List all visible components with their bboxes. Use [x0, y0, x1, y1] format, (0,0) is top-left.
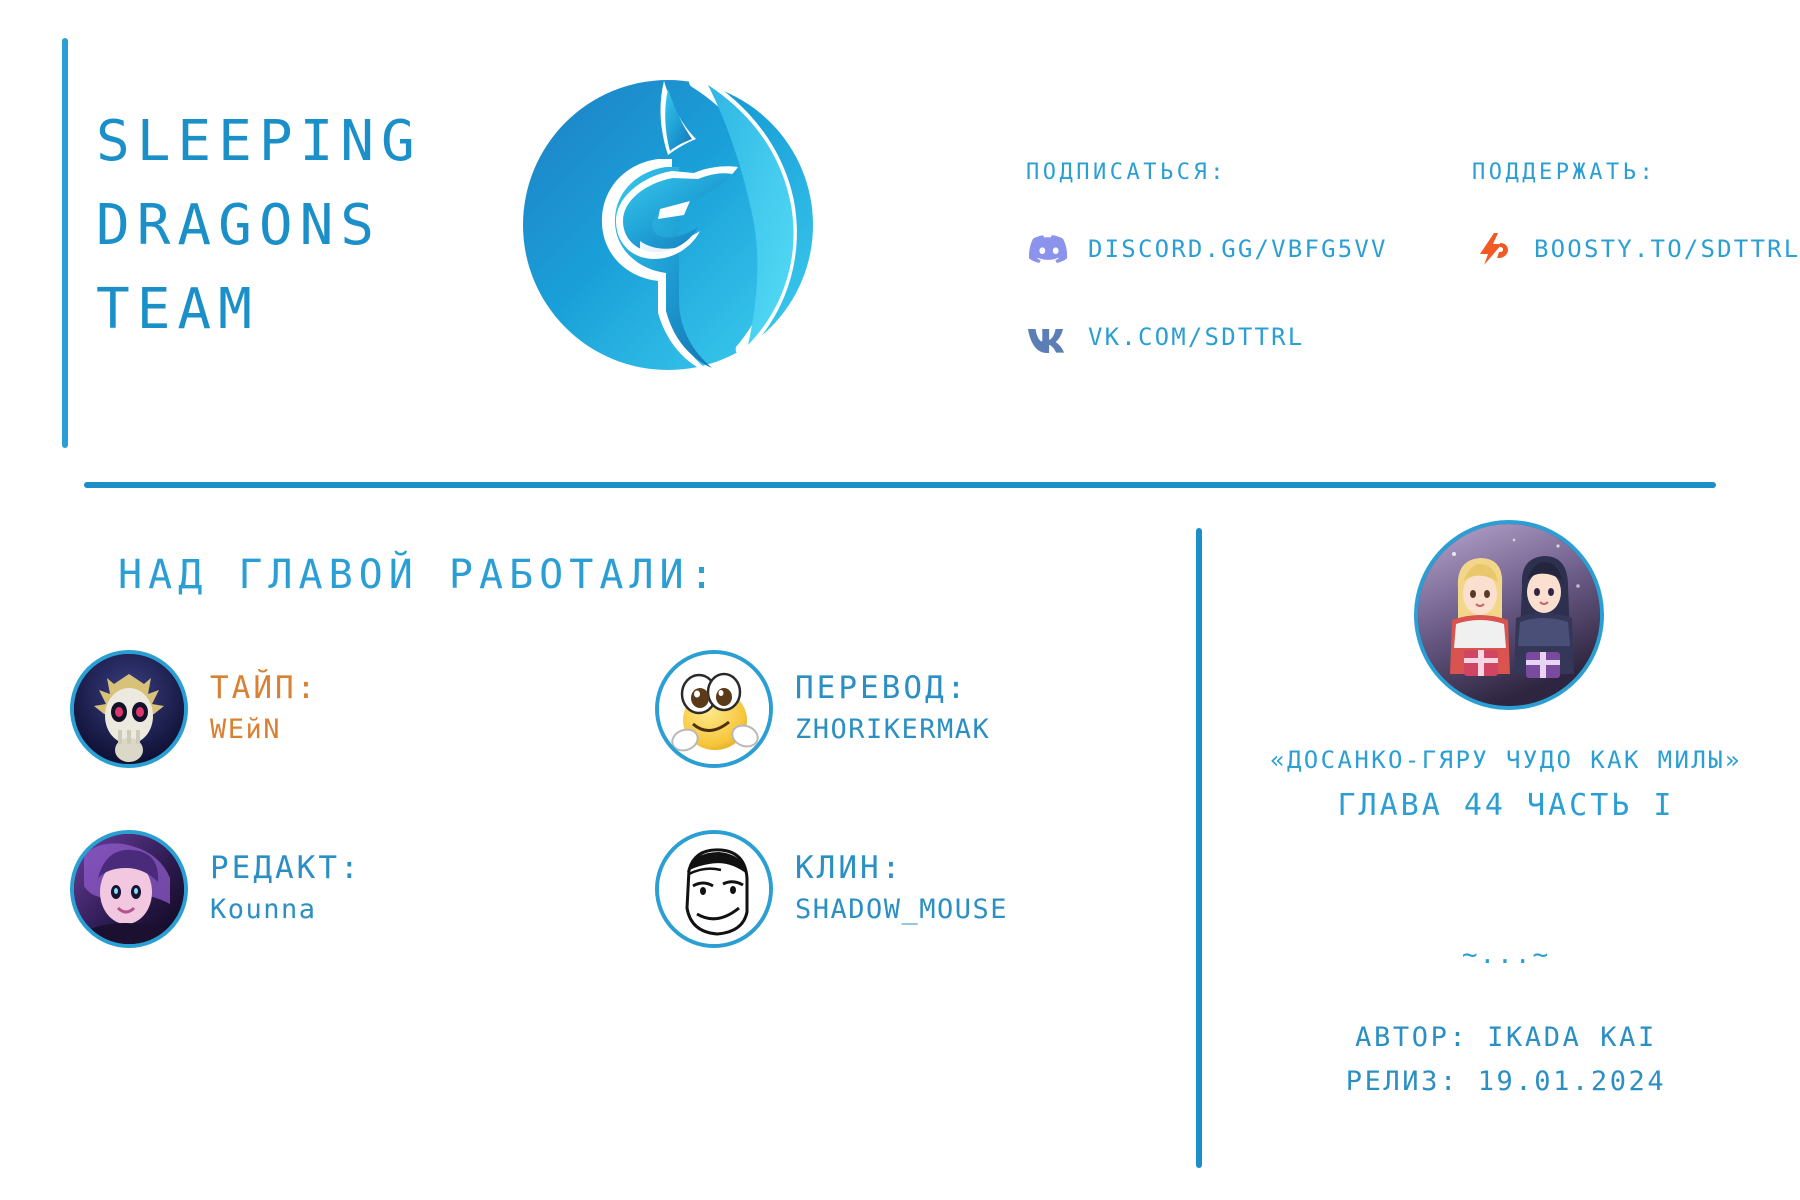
subscribe-column: ПОДПИСАТЬСЯ: DISCORD.GG/VBFG5VV VK.COM/S…: [1026, 160, 1388, 405]
credit-item-type: ТАЙП: WЕйN: [70, 650, 318, 768]
credits-section: НАД ГЛАВОЙ РАБОТАЛИ:: [0, 510, 1200, 1200]
credit-role-label: РЕДАКТ:: [210, 847, 362, 889]
manga-cover-thumbnail: [1414, 520, 1604, 710]
manga-chapter: ГЛАВА 44 ЧАСТЬ I: [1226, 780, 1786, 832]
release-info-panel: «ДОСАНКО-ГЯРУ ЧУДО КАК МИЛЫ» ГЛАВА 44 ЧА…: [1196, 528, 1800, 1188]
discord-link-label: DISCORD.GG/VBFG5VV: [1088, 235, 1388, 263]
decorative-separator: ~...~: [1226, 928, 1786, 982]
credit-name-value: Kounna: [210, 889, 362, 931]
subscribe-heading: ПОДПИСАТЬСЯ:: [1026, 160, 1388, 185]
author-line: АВТОР: IKADA KAI: [1226, 1016, 1786, 1060]
boosty-icon: [1472, 229, 1518, 269]
manga-title: «ДОСАНКО-ГЯРУ ЧУДО КАК МИЛЫ»: [1226, 740, 1786, 780]
release-footer: ~...~ АВТОР: IKADA KAI РЕЛИЗ: 19.01.2024: [1226, 928, 1786, 1104]
header-section: SLEEPING DRAGONS TEAM: [0, 0, 1800, 490]
team-title-line-1: SLEEPING: [96, 100, 516, 184]
boosty-link[interactable]: BOOSTY.TO/SDTTRL: [1472, 229, 1800, 269]
credit-role-label: ТАЙП:: [210, 667, 318, 709]
credit-name-value: ZHORIKERMAK: [795, 709, 990, 751]
team-title-line-2: DRAGONS: [96, 184, 516, 268]
avatar-meme-face: [655, 830, 773, 948]
vk-link[interactable]: VK.COM/SDTTRL: [1026, 317, 1388, 357]
dragon-logo-icon: [508, 55, 828, 385]
credits-page: SLEEPING DRAGONS TEAM: [0, 0, 1800, 1200]
credit-role-label: КЛИН:: [795, 847, 1008, 889]
discord-icon: [1026, 229, 1072, 269]
release-date-line: РЕЛИЗ: 19.01.2024: [1226, 1060, 1786, 1104]
vertical-divider: [1196, 528, 1202, 1168]
horizontal-divider: [84, 482, 1716, 488]
team-title-line-3: TEAM: [96, 268, 516, 352]
manga-info: «ДОСАНКО-ГЯРУ ЧУДО КАК МИЛЫ» ГЛАВА 44 ЧА…: [1226, 740, 1786, 832]
credit-item-translate: ПЕРЕВОД: ZHORIKERMAK: [655, 650, 990, 768]
credits-heading: НАД ГЛАВОЙ РАБОТАЛИ:: [118, 552, 720, 598]
vk-icon: [1026, 317, 1072, 357]
team-title: SLEEPING DRAGONS TEAM: [96, 100, 516, 352]
credit-name-value: SHADOW_MOUSE: [795, 889, 1008, 931]
credit-item-clean: КЛИН: SHADOW_MOUSE: [655, 830, 1008, 948]
avatar-skull-mask: [70, 650, 188, 768]
avatar-smiley-emoji: [655, 650, 773, 768]
credit-role-label: ПЕРЕВОД:: [795, 667, 990, 709]
boosty-link-label: BOOSTY.TO/SDTTRL: [1534, 235, 1800, 263]
support-column: ПОДДЕРЖАТЬ: BOOSTY.TO/SDTTRL: [1472, 160, 1800, 317]
title-accent-bar: [62, 38, 68, 448]
vk-link-label: VK.COM/SDTTRL: [1088, 323, 1304, 351]
avatar-purple-character: [70, 830, 188, 948]
support-heading: ПОДДЕРЖАТЬ:: [1472, 160, 1800, 185]
discord-link[interactable]: DISCORD.GG/VBFG5VV: [1026, 229, 1388, 269]
credit-name-value: WЕйN: [210, 709, 318, 751]
credit-item-edit: РЕДАКТ: Kounna: [70, 830, 362, 948]
